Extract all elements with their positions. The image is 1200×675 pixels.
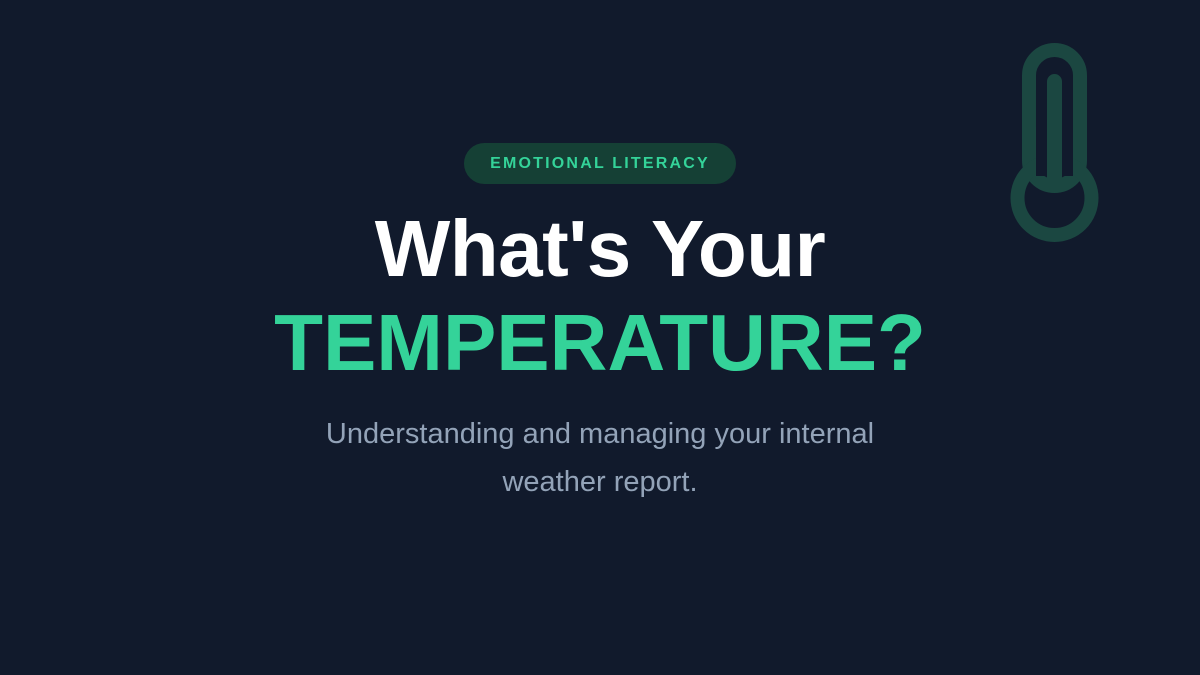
title-line-primary: What's Your <box>274 202 926 296</box>
page-title: What's Your TEMPERATURE? <box>274 202 926 390</box>
title-line-accent: TEMPERATURE? <box>274 296 926 390</box>
eyebrow-badge-label: EMOTIONAL LITERACY <box>490 156 710 172</box>
subtitle-line-2: weather report. <box>326 458 874 506</box>
slide-content: EMOTIONAL LITERACY What's Your TEMPERATU… <box>0 0 1200 675</box>
eyebrow-badge: EMOTIONAL LITERACY <box>464 143 736 184</box>
subtitle-line-1: Understanding and managing your internal <box>326 410 874 458</box>
title-slide: EMOTIONAL LITERACY What's Your TEMPERATU… <box>0 0 1200 675</box>
subtitle: Understanding and managing your internal… <box>326 410 874 506</box>
